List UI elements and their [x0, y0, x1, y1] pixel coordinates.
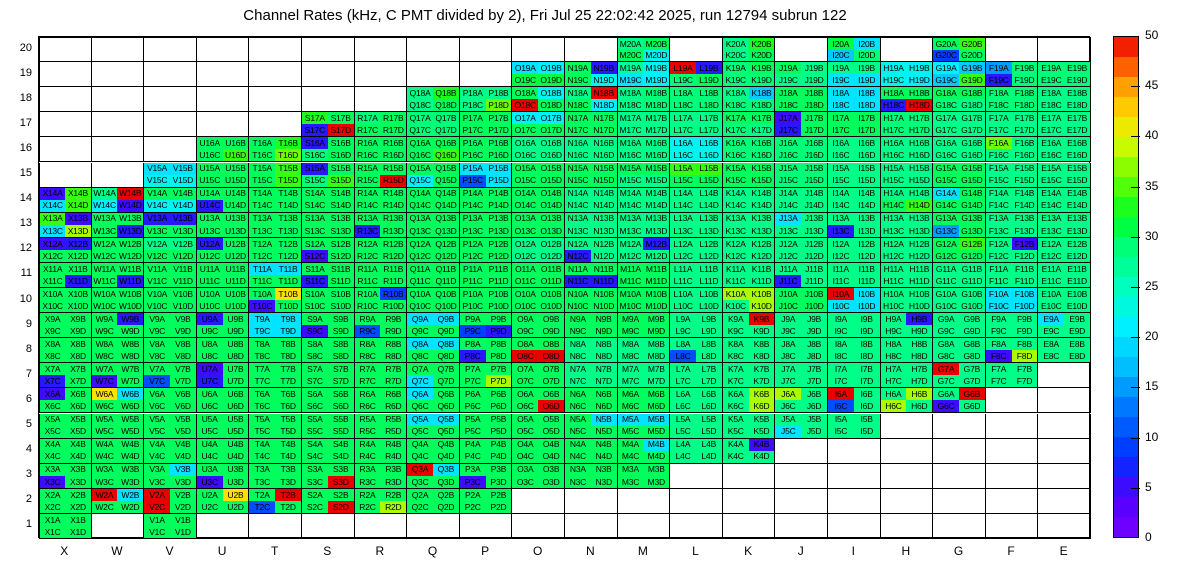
channel-I11A[interactable]: I11A — [828, 263, 854, 275]
module-J17[interactable]: J17AJ17BJ17CJ17D — [775, 112, 828, 137]
module-G13[interactable]: G13AG13BG13CG13D — [933, 213, 986, 238]
module-L17[interactable]: L17AL17BL17CL17D — [670, 112, 723, 137]
channel-L7D[interactable]: L7D — [696, 375, 722, 387]
channel-V8C[interactable]: V8C — [144, 350, 170, 362]
module-R20[interactable] — [355, 37, 408, 62]
channel-O5D[interactable]: O5D — [538, 426, 564, 438]
module-P12[interactable]: P12AP12BP12CP12D — [460, 238, 513, 263]
channel-W4B[interactable]: W4B — [117, 439, 143, 451]
module-U9[interactable]: U9AU9BU9CU9D — [197, 313, 250, 338]
channel-U13C[interactable]: U13C — [197, 225, 223, 237]
channel-E18C[interactable]: E18C — [1038, 99, 1064, 111]
channel-W8A[interactable]: W8A — [92, 338, 118, 350]
channel-Q10A[interactable]: Q10A — [407, 288, 433, 300]
channel-K20D[interactable]: K20D — [749, 50, 775, 62]
module-E19[interactable]: E19AE19BE19CE19D — [1038, 62, 1091, 87]
module-I12[interactable]: I12AI12BI12CI12D — [828, 238, 881, 263]
channel-G19C[interactable]: G19C — [933, 74, 959, 86]
channel-L8A[interactable]: L8A — [670, 338, 696, 350]
module-Q8[interactable]: Q8AQ8BQ8CQ8D — [407, 338, 460, 363]
channel-R7D[interactable]: R7D — [380, 375, 406, 387]
channel-V6C[interactable]: V6C — [144, 400, 170, 412]
channel-X5B[interactable]: X5B — [65, 414, 90, 426]
channel-I10C[interactable]: I10C — [828, 300, 854, 312]
channel-F16A[interactable]: F16A — [986, 137, 1012, 149]
channel-X12B[interactable]: X12B — [65, 238, 90, 250]
module-S16[interactable]: S16AS16BS16CS16D — [302, 137, 355, 162]
channel-X13A[interactable]: X13A — [40, 213, 65, 225]
channel-J8C[interactable]: J8C — [775, 350, 801, 362]
channel-W2A[interactable]: W2A — [92, 489, 118, 501]
channel-J19A[interactable]: J19A — [775, 62, 801, 74]
channel-S8C[interactable]: S8C — [302, 350, 328, 362]
module-I2[interactable] — [828, 489, 881, 514]
module-V7[interactable]: V7AV7BV7CV7D — [144, 363, 197, 388]
channel-L14C[interactable]: L14C — [670, 200, 696, 212]
module-X2[interactable]: X2AX2BX2CX2D — [39, 489, 92, 514]
channel-H12A[interactable]: H12A — [881, 238, 907, 250]
channel-F10C[interactable]: F10C — [986, 300, 1012, 312]
channel-P8C[interactable]: P8C — [460, 350, 486, 362]
module-J7[interactable]: J7AJ7BJ7CJ7D — [775, 363, 828, 388]
channel-K9D[interactable]: K9D — [749, 325, 775, 337]
channel-T16B[interactable]: T16B — [275, 137, 301, 149]
channel-K14A[interactable]: K14A — [723, 188, 749, 200]
module-F15[interactable]: F15AF15BF15CF15D — [986, 163, 1039, 188]
channel-H6C[interactable]: H6C — [881, 400, 907, 412]
channel-K6D[interactable]: K6D — [749, 400, 775, 412]
channel-V7A[interactable]: V7A — [144, 363, 170, 375]
module-H17[interactable]: H17AH17BH17CH17D — [881, 112, 934, 137]
channel-T3B[interactable]: T3B — [275, 464, 301, 476]
channel-K7A[interactable]: K7A — [723, 363, 749, 375]
module-U14[interactable]: U14AU14BU14CU14D — [197, 188, 250, 213]
module-I9[interactable]: I9AI9BI9CI9D — [828, 313, 881, 338]
module-R4[interactable]: R4AR4BR4CR4D — [355, 439, 408, 464]
channel-N12A[interactable]: N12A — [565, 238, 591, 250]
module-F6[interactable] — [986, 388, 1039, 413]
module-S20[interactable] — [302, 37, 355, 62]
channel-K14B[interactable]: K14B — [749, 188, 775, 200]
channel-L6A[interactable]: L6A — [670, 388, 696, 400]
channel-L5B[interactable]: L5B — [696, 414, 722, 426]
channel-W3B[interactable]: W3B — [117, 464, 143, 476]
module-N11[interactable]: N11AN11BN11CN11D — [565, 263, 618, 288]
channel-Q8D[interactable]: Q8D — [433, 350, 459, 362]
channel-P6B[interactable]: P6B — [486, 388, 512, 400]
channel-F19D[interactable]: F19D — [1012, 74, 1038, 86]
channel-T15C[interactable]: T15C — [249, 175, 275, 187]
channel-P11C[interactable]: P11C — [460, 275, 486, 287]
channel-I20A[interactable]: I20A — [828, 38, 854, 50]
channel-L15D[interactable]: L15D — [696, 175, 722, 187]
module-N1[interactable] — [565, 514, 618, 539]
channel-X10B[interactable]: X10B — [65, 288, 90, 300]
channel-K19D[interactable]: K19D — [749, 74, 775, 86]
channel-F13A[interactable]: F13A — [986, 213, 1012, 225]
channel-Q4A[interactable]: Q4A — [407, 439, 433, 451]
channel-H11C[interactable]: H11C — [881, 275, 907, 287]
module-H16[interactable]: H16AH16BH16CH16D — [881, 137, 934, 162]
module-J16[interactable]: J16AJ16BJ16CJ16D — [775, 137, 828, 162]
channel-W2D[interactable]: W2D — [117, 501, 143, 513]
channel-S10B[interactable]: S10B — [328, 288, 354, 300]
channel-I9D[interactable]: I9D — [854, 325, 880, 337]
module-R16[interactable]: R16AR16BR16CR16D — [355, 137, 408, 162]
channel-V10D[interactable]: V10D — [170, 300, 196, 312]
channel-W10D[interactable]: W10D — [117, 300, 143, 312]
channel-H7C[interactable]: H7C — [881, 375, 907, 387]
module-V2[interactable]: V2AV2BV2CV2D — [144, 489, 197, 514]
channel-Q5D[interactable]: Q5D — [433, 426, 459, 438]
module-K7[interactable]: K7AK7BK7CK7D — [723, 363, 776, 388]
channel-M16C[interactable]: M16C — [618, 149, 644, 161]
channel-I10D[interactable]: I10D — [854, 300, 880, 312]
channel-V10A[interactable]: V10A — [144, 288, 170, 300]
channel-V4D[interactable]: V4D — [170, 451, 196, 463]
module-R14[interactable]: R14AR14BR14CR14D — [355, 188, 408, 213]
module-Q10[interactable]: Q10AQ10BQ10CQ10D — [407, 288, 460, 313]
channel-W10A[interactable]: W10A — [92, 288, 118, 300]
channel-X7C[interactable]: X7C — [40, 375, 65, 387]
channel-R2D[interactable]: R2D — [380, 501, 406, 513]
module-H14[interactable]: H14AH14BH14CH14D — [881, 188, 934, 213]
module-M8[interactable]: M8AM8BM8CM8D — [618, 338, 671, 363]
module-U7[interactable]: U7AU7BU7CU7D — [197, 363, 250, 388]
channel-R2C[interactable]: R2C — [355, 501, 381, 513]
channel-J10A[interactable]: J10A — [775, 288, 801, 300]
channel-Q9C[interactable]: Q9C — [407, 325, 433, 337]
module-P16[interactable]: P16AP16BP16CP16D — [460, 137, 513, 162]
channel-U2D[interactable]: U2D — [223, 501, 249, 513]
channel-Q8C[interactable]: Q8C — [407, 350, 433, 362]
channel-F9C[interactable]: F9C — [986, 325, 1012, 337]
channel-J10D[interactable]: J10D — [801, 300, 827, 312]
module-V19[interactable] — [144, 62, 197, 87]
channel-G8B[interactable]: G8B — [959, 338, 985, 350]
module-M20[interactable]: M20AM20BM20CM20D — [618, 37, 671, 62]
module-T12[interactable]: T12AT12BT12CT12D — [249, 238, 302, 263]
channel-M5D[interactable]: M5D — [643, 426, 669, 438]
module-H12[interactable]: H12AH12BH12CH12D — [881, 238, 934, 263]
channel-S3D[interactable]: S3D — [328, 476, 354, 488]
channel-T9B[interactable]: T9B — [275, 313, 301, 325]
channel-H7A[interactable]: H7A — [881, 363, 907, 375]
module-O1[interactable] — [512, 514, 565, 539]
module-T4[interactable]: T4AT4BT4CT4D — [249, 439, 302, 464]
module-O18[interactable]: O18AO18BO18CO18D — [512, 87, 565, 112]
channel-S11C[interactable]: S11C — [302, 275, 328, 287]
channel-M9C[interactable]: M9C — [618, 325, 644, 337]
module-X20[interactable] — [39, 37, 92, 62]
module-N18[interactable]: N18AN18BN18CN18D — [565, 87, 618, 112]
module-H8[interactable]: H8AH8BH8CH8D — [881, 338, 934, 363]
channel-H17D[interactable]: H17D — [906, 124, 932, 136]
module-I17[interactable]: I17AI17BI17CI17D — [828, 112, 881, 137]
channel-X2D[interactable]: X2D — [65, 501, 90, 513]
module-V16[interactable] — [144, 137, 197, 162]
channel-S2D[interactable]: S2D — [328, 501, 354, 513]
module-W1[interactable] — [92, 514, 145, 539]
channel-V3B[interactable]: V3B — [170, 464, 196, 476]
channel-V14C[interactable]: V14C — [144, 200, 170, 212]
channel-M4B[interactable]: M4B — [643, 439, 669, 451]
channel-P17C[interactable]: P17C — [460, 124, 486, 136]
channel-W13B[interactable]: W13B — [117, 213, 143, 225]
channel-R3C[interactable]: R3C — [355, 476, 381, 488]
channel-M19A[interactable]: M19A — [618, 62, 644, 74]
channel-Q13B[interactable]: Q13B — [433, 213, 459, 225]
channel-V13C[interactable]: V13C — [144, 225, 170, 237]
channel-Q6D[interactable]: Q6D — [433, 400, 459, 412]
channel-P5B[interactable]: P5B — [486, 414, 512, 426]
channel-L9A[interactable]: L9A — [670, 313, 696, 325]
channel-H6A[interactable]: H6A — [881, 388, 907, 400]
channel-M15B[interactable]: M15B — [643, 163, 669, 175]
channel-H12D[interactable]: H12D — [906, 250, 932, 262]
channel-O13C[interactable]: O13C — [512, 225, 538, 237]
channel-U15D[interactable]: U15D — [223, 175, 249, 187]
channel-X5D[interactable]: X5D — [65, 426, 90, 438]
module-W17[interactable] — [92, 112, 145, 137]
channel-V11B[interactable]: V11B — [170, 263, 196, 275]
channel-R15A[interactable]: R15A — [355, 163, 381, 175]
channel-M20C[interactable]: M20C — [618, 50, 644, 62]
channel-X3B[interactable]: X3B — [65, 464, 90, 476]
channel-J11D[interactable]: J11D — [801, 275, 827, 287]
module-E6[interactable] — [1038, 388, 1091, 413]
channel-N5D[interactable]: N5D — [591, 426, 617, 438]
channel-P18C[interactable]: P18C — [460, 99, 486, 111]
channel-W13A[interactable]: W13A — [92, 213, 118, 225]
channel-N19C[interactable]: N19C — [565, 74, 591, 86]
module-O5[interactable]: O5AO5BO5CO5D — [512, 414, 565, 439]
module-P13[interactable]: P13AP13BP13CP13D — [460, 213, 513, 238]
channel-N6C[interactable]: N6C — [565, 400, 591, 412]
channel-W14B[interactable]: W14B — [117, 188, 143, 200]
channel-P9B[interactable]: P9B — [486, 313, 512, 325]
module-Q18[interactable]: Q18AQ18BQ18CQ18D — [407, 87, 460, 112]
channel-X14D[interactable]: X14D — [65, 200, 90, 212]
channel-M20D[interactable]: M20D — [643, 50, 669, 62]
module-I18[interactable]: I18AI18BI18CI18D — [828, 87, 881, 112]
module-H19[interactable]: H19AH19BH19CH19D — [881, 62, 934, 87]
channel-Q16C[interactable]: Q16C — [407, 149, 433, 161]
module-G12[interactable]: G12AG12BG12CG12D — [933, 238, 986, 263]
channel-E14B[interactable]: E14B — [1064, 188, 1090, 200]
channel-J14C[interactable]: J14C — [775, 200, 801, 212]
channel-V1C[interactable]: V1C — [144, 526, 170, 538]
module-O16[interactable]: O16AO16BO16CO16D — [512, 137, 565, 162]
channel-F8D[interactable]: F8D — [1012, 350, 1038, 362]
channel-G12B[interactable]: G12B — [959, 238, 985, 250]
channel-I16D[interactable]: I16D — [854, 149, 880, 161]
channel-N4B[interactable]: N4B — [591, 439, 617, 451]
module-S5[interactable]: S5AS5BS5CS5D — [302, 414, 355, 439]
channel-M9B[interactable]: M9B — [643, 313, 669, 325]
channel-Q9A[interactable]: Q9A — [407, 313, 433, 325]
module-V14[interactable]: V14AV14BV14CV14D — [144, 188, 197, 213]
channel-P6A[interactable]: P6A — [460, 388, 486, 400]
channel-O6C[interactable]: O6C — [512, 400, 538, 412]
channel-J14B[interactable]: J14B — [801, 188, 827, 200]
channel-T9C[interactable]: T9C — [249, 325, 275, 337]
module-Q7[interactable]: Q7AQ7BQ7CQ7D — [407, 363, 460, 388]
channel-O3D[interactable]: O3D — [538, 476, 564, 488]
channel-W8D[interactable]: W8D — [117, 350, 143, 362]
module-S6[interactable]: S6AS6BS6CS6D — [302, 388, 355, 413]
channel-W4A[interactable]: W4A — [92, 439, 118, 451]
channel-K15B[interactable]: K15B — [749, 163, 775, 175]
channel-G16C[interactable]: G16C — [933, 149, 959, 161]
module-K11[interactable]: K11AK11BK11CK11D — [723, 263, 776, 288]
channel-Q12A[interactable]: Q12A — [407, 238, 433, 250]
module-J19[interactable]: J19AJ19BJ19CJ19D — [775, 62, 828, 87]
channel-M17C[interactable]: M17C — [618, 124, 644, 136]
channel-N4A[interactable]: N4A — [565, 439, 591, 451]
channel-X5A[interactable]: X5A — [40, 414, 65, 426]
channel-S15D[interactable]: S15D — [328, 175, 354, 187]
module-V11[interactable]: V11AV11BV11CV11D — [144, 263, 197, 288]
channel-S8A[interactable]: S8A — [302, 338, 328, 350]
channel-X8C[interactable]: X8C — [40, 350, 65, 362]
channel-O9D[interactable]: O9D — [538, 325, 564, 337]
channel-N17C[interactable]: N17C — [565, 124, 591, 136]
module-S13[interactable]: S13AS13BS13CS13D — [302, 213, 355, 238]
channel-S5D[interactable]: S5D — [328, 426, 354, 438]
module-R17[interactable]: R17AR17BR17CR17D — [355, 112, 408, 137]
channel-W14C[interactable]: W14C — [92, 200, 118, 212]
module-L18[interactable]: L18AL18BL18CL18D — [670, 87, 723, 112]
channel-L18C[interactable]: L18C — [670, 99, 696, 111]
channel-T8B[interactable]: T8B — [275, 338, 301, 350]
module-E12[interactable]: E12AE12BE12CE12D — [1038, 238, 1091, 263]
channel-P18D[interactable]: P18D — [486, 99, 512, 111]
channel-X11D[interactable]: X11D — [65, 275, 90, 287]
channel-L19B[interactable]: L19B — [696, 62, 722, 74]
module-F16[interactable]: F16AF16BF16CF16D — [986, 137, 1039, 162]
module-F9[interactable]: F9AF9BF9CF9D — [986, 313, 1039, 338]
channel-Q15A[interactable]: Q15A — [407, 163, 433, 175]
module-G5[interactable] — [933, 414, 986, 439]
channel-V15A[interactable]: V15A — [144, 163, 170, 175]
channel-X12D[interactable]: X12D — [65, 250, 90, 262]
channel-K8D[interactable]: K8D — [749, 350, 775, 362]
channel-V3A[interactable]: V3A — [144, 464, 170, 476]
channel-J16C[interactable]: J16C — [775, 149, 801, 161]
channel-Q15B[interactable]: Q15B — [433, 163, 459, 175]
channel-K6C[interactable]: K6C — [723, 400, 749, 412]
channel-P14A[interactable]: P14A — [460, 188, 486, 200]
channel-R15D[interactable]: R15D — [380, 175, 406, 187]
module-K15[interactable]: K15AK15BK15CK15D — [723, 163, 776, 188]
channel-W7C[interactable]: W7C — [92, 375, 118, 387]
channel-I16A[interactable]: I16A — [828, 137, 854, 149]
module-I20[interactable]: I20AI20BI20CI20D — [828, 37, 881, 62]
channel-H8B[interactable]: H8B — [906, 338, 932, 350]
channel-F17C[interactable]: F17C — [986, 124, 1012, 136]
module-I14[interactable]: I14AI14BI14CI14D — [828, 188, 881, 213]
channel-Q3C[interactable]: Q3C — [407, 476, 433, 488]
channel-K8B[interactable]: K8B — [749, 338, 775, 350]
channel-G19B[interactable]: G19B — [959, 62, 985, 74]
channel-S17D[interactable]: S17D — [328, 124, 354, 136]
channel-H19C[interactable]: H19C — [881, 74, 907, 86]
channel-R12D[interactable]: R12D — [380, 250, 406, 262]
channel-U14C[interactable]: U14C — [197, 200, 223, 212]
channel-O15D[interactable]: O15D — [538, 175, 564, 187]
channel-J12B[interactable]: J12B — [801, 238, 827, 250]
channel-R9D[interactable]: R9D — [380, 325, 406, 337]
module-W12[interactable]: W12AW12BW12CW12D — [92, 238, 145, 263]
channel-N12B[interactable]: N12B — [591, 238, 617, 250]
module-V5[interactable]: V5AV5BV5CV5D — [144, 414, 197, 439]
module-P10[interactable]: P10AP10BP10CP10D — [460, 288, 513, 313]
module-G17[interactable]: G17AG17BG17CG17D — [933, 112, 986, 137]
channel-R15B[interactable]: R15B — [380, 163, 406, 175]
channel-I11C[interactable]: I11C — [828, 275, 854, 287]
channel-M17D[interactable]: M17D — [643, 124, 669, 136]
channel-W12D[interactable]: W12D — [117, 250, 143, 262]
channel-N8B[interactable]: N8B — [591, 338, 617, 350]
channel-L6C[interactable]: L6C — [670, 400, 696, 412]
channel-Q5B[interactable]: Q5B — [433, 414, 459, 426]
channel-P13D[interactable]: P13D — [486, 225, 512, 237]
channel-S6A[interactable]: S6A — [302, 388, 328, 400]
module-P2[interactable]: P2AP2BP2CP2D — [460, 489, 513, 514]
channel-W5C[interactable]: W5C — [92, 426, 118, 438]
channel-E10D[interactable]: E10D — [1064, 300, 1090, 312]
channel-P7B[interactable]: P7B — [486, 363, 512, 375]
channel-F14D[interactable]: F14D — [1012, 200, 1038, 212]
channel-M4C[interactable]: M4C — [618, 451, 644, 463]
channel-L12B[interactable]: L12B — [696, 238, 722, 250]
channel-T6A[interactable]: T6A — [249, 388, 275, 400]
module-E17[interactable]: E17AE17BE17CE17D — [1038, 112, 1091, 137]
channel-N3A[interactable]: N3A — [565, 464, 591, 476]
channel-V7D[interactable]: V7D — [170, 375, 196, 387]
channel-T13B[interactable]: T13B — [275, 213, 301, 225]
channel-H10D[interactable]: H10D — [906, 300, 932, 312]
module-F2[interactable] — [986, 489, 1039, 514]
module-S10[interactable]: S10AS10BS10CS10D — [302, 288, 355, 313]
module-E8[interactable]: E8AE8BE8CE8D — [1038, 338, 1091, 363]
module-S18[interactable] — [302, 87, 355, 112]
channel-Q16D[interactable]: Q16D — [433, 149, 459, 161]
channel-T6B[interactable]: T6B — [275, 388, 301, 400]
module-X14[interactable]: X14AX14BX14CX14D — [39, 188, 92, 213]
channel-I17B[interactable]: I17B — [854, 112, 880, 124]
channel-L7B[interactable]: L7B — [696, 363, 722, 375]
channel-O7D[interactable]: O7D — [538, 375, 564, 387]
channel-O19D[interactable]: O19D — [538, 74, 564, 86]
module-Q3[interactable]: Q3AQ3BQ3CQ3D — [407, 464, 460, 489]
channel-R14C[interactable]: R14C — [355, 200, 381, 212]
channel-W10B[interactable]: W10B — [117, 288, 143, 300]
module-V3[interactable]: V3AV3BV3CV3D — [144, 464, 197, 489]
channel-S16A[interactable]: S16A — [302, 137, 328, 149]
channel-J7A[interactable]: J7A — [775, 363, 801, 375]
module-F13[interactable]: F13AF13BF13CF13D — [986, 213, 1039, 238]
channel-E17D[interactable]: E17D — [1064, 124, 1090, 136]
channel-K5B[interactable]: K5B — [749, 414, 775, 426]
module-I13[interactable]: I13AI13BI13CI13D — [828, 213, 881, 238]
channel-L5A[interactable]: L5A — [670, 414, 696, 426]
channel-G10C[interactable]: G10C — [933, 300, 959, 312]
module-K17[interactable]: K17AK17BK17CK17D — [723, 112, 776, 137]
module-Q9[interactable]: Q9AQ9BQ9CQ9D — [407, 313, 460, 338]
channel-W7B[interactable]: W7B — [117, 363, 143, 375]
